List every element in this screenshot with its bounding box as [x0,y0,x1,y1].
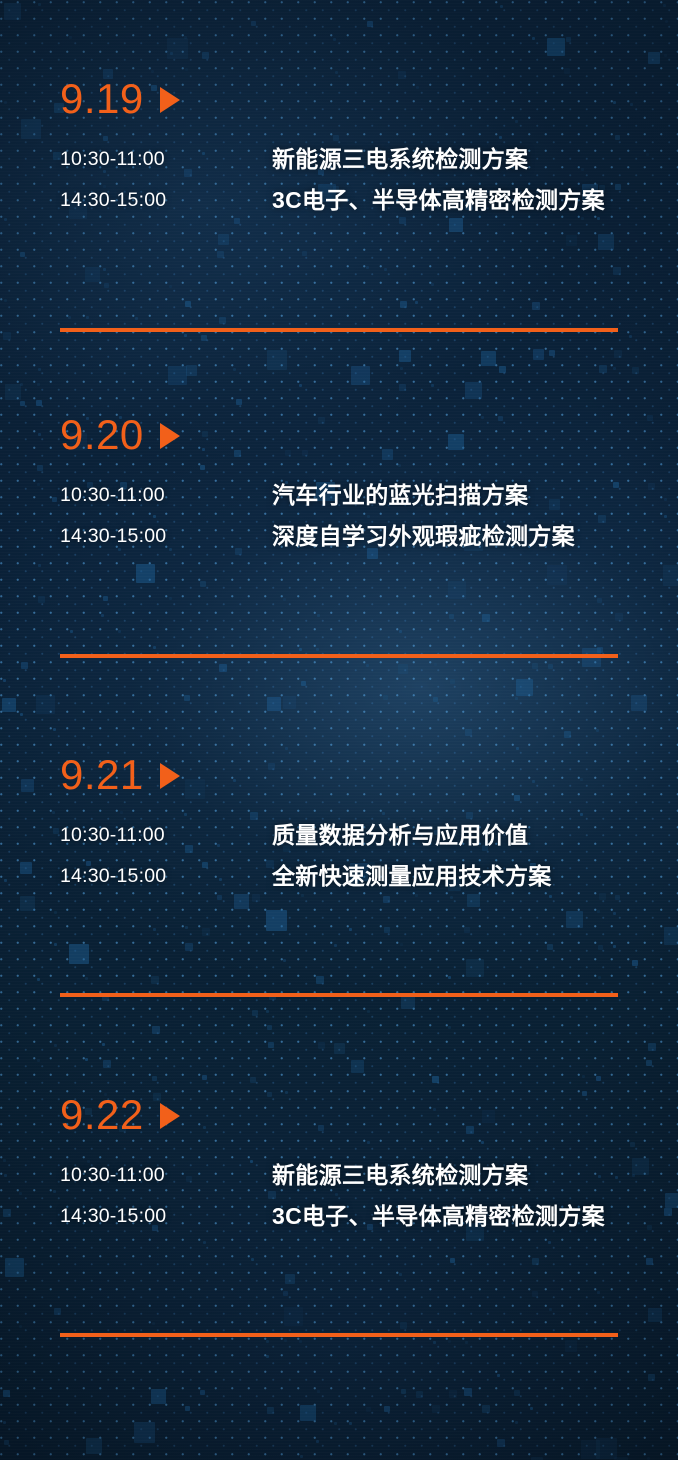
section-divider-4 [60,1333,618,1337]
session-time: 10:30-11:00 [60,820,272,850]
session-title: 质量数据分析与应用价值 [272,820,630,851]
date-label-1: 9.19 [60,77,144,121]
session-list-2: 10:30-11:00 汽车行业的蓝光扫描方案 14:30-15:00 深度自学… [0,480,678,552]
session-time: 14:30-15:00 [60,861,272,891]
date-label-3: 9.21 [60,753,144,797]
session-title: 深度自学习外观瑕疵检测方案 [272,521,630,552]
session-row: 10:30-11:00 汽车行业的蓝光扫描方案 [0,480,678,511]
session-title: 新能源三电系统检测方案 [272,144,630,175]
session-row: 10:30-11:00 质量数据分析与应用价值 [0,820,678,851]
triangle-right-icon [160,423,180,449]
triangle-right-icon [160,1103,180,1129]
date-header-1: 9.19 [0,76,678,122]
session-row: 14:30-15:00 深度自学习外观瑕疵检测方案 [0,521,678,552]
section-divider-2 [60,654,618,658]
session-title: 3C电子、半导体高精密检测方案 [272,185,630,216]
agenda-poster: 9.19 10:30-11:00 新能源三电系统检测方案 14:30-15:00… [0,0,678,1460]
triangle-right-icon [160,763,180,789]
session-row: 14:30-15:00 3C电子、半导体高精密检测方案 [0,185,678,216]
session-time: 14:30-15:00 [60,185,272,215]
schedule-block-1: 9.19 10:30-11:00 新能源三电系统检测方案 14:30-15:00… [0,76,678,226]
section-divider-3 [60,993,618,997]
session-title: 汽车行业的蓝光扫描方案 [272,480,630,511]
session-title: 新能源三电系统检测方案 [272,1160,630,1191]
session-list-1: 10:30-11:00 新能源三电系统检测方案 14:30-15:00 3C电子… [0,144,678,216]
schedule-block-2: 9.20 10:30-11:00 汽车行业的蓝光扫描方案 14:30-15:00… [0,412,678,562]
session-time: 14:30-15:00 [60,1201,272,1231]
session-time: 10:30-11:00 [60,1160,272,1190]
date-header-4: 9.22 [0,1092,678,1138]
session-time: 14:30-15:00 [60,521,272,551]
session-time: 10:30-11:00 [60,480,272,510]
date-label-2: 9.20 [60,413,144,457]
session-list-4: 10:30-11:00 新能源三电系统检测方案 14:30-15:00 3C电子… [0,1160,678,1232]
session-title: 3C电子、半导体高精密检测方案 [272,1201,630,1232]
session-row: 14:30-15:00 3C电子、半导体高精密检测方案 [0,1201,678,1232]
session-list-3: 10:30-11:00 质量数据分析与应用价值 14:30-15:00 全新快速… [0,820,678,892]
session-row: 10:30-11:00 新能源三电系统检测方案 [0,1160,678,1191]
date-header-3: 9.21 [0,752,678,798]
schedule-block-3: 9.21 10:30-11:00 质量数据分析与应用价值 14:30-15:00… [0,752,678,902]
session-time: 10:30-11:00 [60,144,272,174]
date-header-2: 9.20 [0,412,678,458]
agenda-content: 9.19 10:30-11:00 新能源三电系统检测方案 14:30-15:00… [0,0,678,1460]
session-row: 10:30-11:00 新能源三电系统检测方案 [0,144,678,175]
date-label-4: 9.22 [60,1093,144,1137]
section-divider-1 [60,328,618,332]
triangle-right-icon [160,87,180,113]
session-row: 14:30-15:00 全新快速测量应用技术方案 [0,861,678,892]
schedule-block-4: 9.22 10:30-11:00 新能源三电系统检测方案 14:30-15:00… [0,1092,678,1242]
session-title: 全新快速测量应用技术方案 [272,861,630,892]
